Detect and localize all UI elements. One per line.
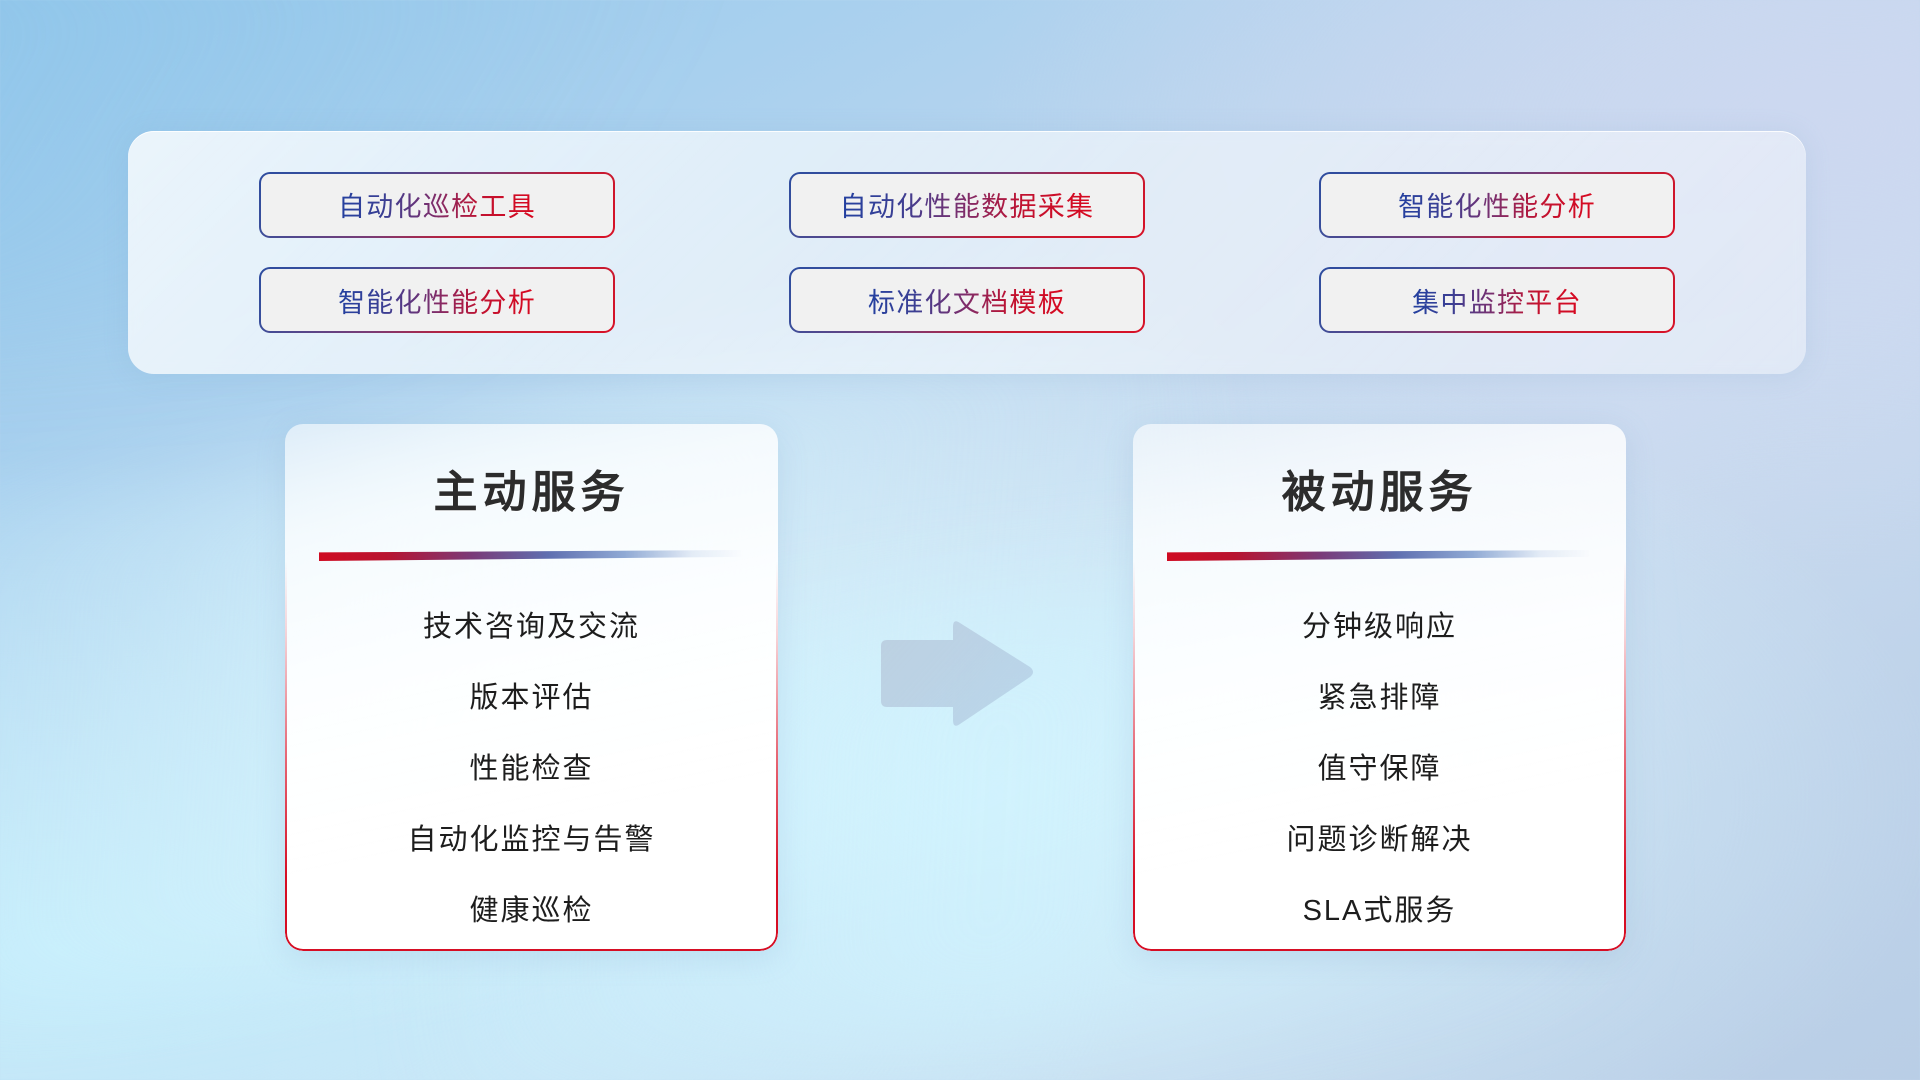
right-arrow-icon <box>877 617 1036 732</box>
list-item: 紧急排障 <box>1317 663 1441 734</box>
list-item: SLA式服务 <box>1303 876 1457 947</box>
card-title: 主动服务 <box>285 456 778 520</box>
list-item: 值守保障 <box>1317 734 1441 805</box>
card-divider-line <box>1167 550 1591 561</box>
card-divider-line <box>319 550 743 561</box>
list-item: 性能检查 <box>469 734 593 805</box>
card-list: 分钟级响应 紧急排障 值守保障 问题诊断解决 SLA式服务 <box>1133 592 1626 947</box>
card-list: 技术咨询及交流 版本评估 性能检查 自动化监控与告警 健康巡检 <box>285 592 778 947</box>
service-card-reactive[interactable]: 被动服务 分钟级响应 紧急排障 值守保障 问题诊断解决 SLA式服务 <box>1133 424 1626 951</box>
list-item: 自动化监控与告警 <box>407 805 655 876</box>
list-item: 健康巡检 <box>469 876 593 947</box>
service-cards: 主动服务 技术咨询及交流 版本评估 性能检查 自动化监控与告警 健康巡检 被动服… <box>0 0 1920 1080</box>
list-item: 问题诊断解决 <box>1286 805 1472 876</box>
list-item: 版本评估 <box>469 663 593 734</box>
list-item: 技术咨询及交流 <box>423 592 640 663</box>
card-title: 被动服务 <box>1133 456 1626 520</box>
service-card-proactive[interactable]: 主动服务 技术咨询及交流 版本评估 性能检查 自动化监控与告警 健康巡检 <box>285 424 778 951</box>
list-item: 分钟级响应 <box>1302 592 1457 663</box>
